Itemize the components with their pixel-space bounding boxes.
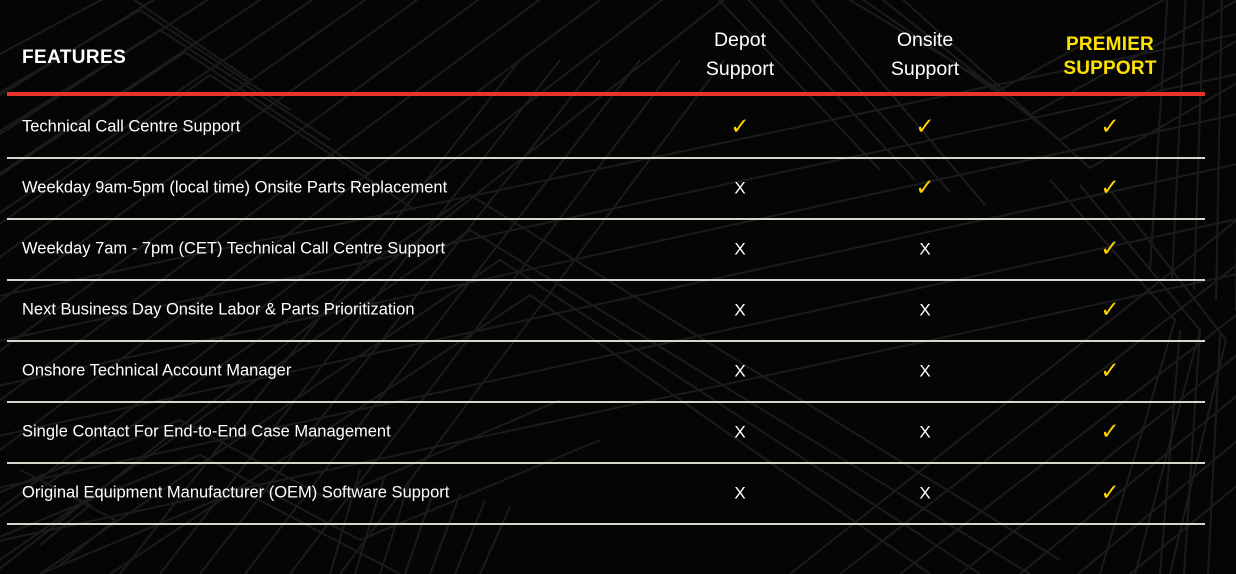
availability-cell: ✓	[1015, 236, 1205, 262]
feature-label: Next Business Day Onsite Labor & Parts P…	[22, 300, 415, 319]
availability-cell: ✓	[830, 114, 1020, 140]
table-row: Single Contact For End-to-End Case Manag…	[0, 401, 1236, 462]
table-row: Onshore Technical Account ManagerXX✓	[0, 340, 1236, 401]
column-header-depot-support: Depot Support	[645, 26, 835, 84]
cross-icon: X	[919, 422, 930, 441]
availability-cell: X	[645, 419, 835, 444]
check-icon: ✓	[1100, 113, 1119, 139]
availability-cell: ✓	[1015, 358, 1205, 384]
check-icon: ✓	[1100, 357, 1119, 383]
column-header-line2: Support	[645, 55, 835, 84]
features-column-title: FEATURES	[22, 47, 126, 69]
availability-cell: X	[645, 358, 835, 383]
row-divider	[7, 523, 1205, 525]
cross-icon: X	[919, 361, 930, 380]
feature-label: Onshore Technical Account Manager	[22, 361, 291, 380]
column-header-line1: Onsite	[830, 26, 1020, 55]
table-row: Technical Call Centre Support✓✓✓	[0, 96, 1236, 157]
table-row: Original Equipment Manufacturer (OEM) So…	[0, 462, 1236, 523]
availability-cell: ✓	[830, 175, 1020, 201]
column-header-line2: SUPPORT	[1015, 57, 1205, 81]
feature-label: Single Contact For End-to-End Case Manag…	[22, 422, 391, 441]
check-icon: ✓	[915, 113, 934, 139]
cross-icon: X	[919, 239, 930, 258]
table-row: Weekday 9am-5pm (local time) Onsite Part…	[0, 157, 1236, 218]
cross-icon: X	[734, 239, 745, 258]
table-row: Weekday 7am - 7pm (CET) Technical Call C…	[0, 218, 1236, 279]
availability-cell: ✓	[1015, 419, 1205, 445]
column-header-line1: Depot	[645, 26, 835, 55]
availability-cell: ✓	[1015, 175, 1205, 201]
cross-icon: X	[734, 361, 745, 380]
table-header: FEATURES Depot Support Onsite Support PR…	[0, 0, 1236, 93]
availability-cell: ✓	[1015, 480, 1205, 506]
availability-cell: X	[830, 480, 1020, 505]
feature-label: Weekday 7am - 7pm (CET) Technical Call C…	[22, 239, 445, 258]
column-header-premier-support: PREMIER SUPPORT	[1015, 33, 1205, 81]
cross-icon: X	[919, 300, 930, 319]
availability-cell: X	[645, 175, 835, 200]
availability-cell: X	[830, 297, 1020, 322]
check-icon: ✓	[1100, 174, 1119, 200]
check-icon: ✓	[1100, 479, 1119, 505]
check-icon: ✓	[1100, 418, 1119, 444]
cross-icon: X	[734, 483, 745, 502]
check-icon: ✓	[1100, 235, 1119, 261]
check-icon: ✓	[1100, 296, 1119, 322]
column-header-line2: Support	[830, 55, 1020, 84]
table-row: Next Business Day Onsite Labor & Parts P…	[0, 279, 1236, 340]
cross-icon: X	[919, 483, 930, 502]
feature-label: Weekday 9am-5pm (local time) Onsite Part…	[22, 178, 447, 197]
availability-cell: X	[645, 480, 835, 505]
availability-cell: ✓	[645, 114, 835, 140]
cross-icon: X	[734, 178, 745, 197]
cross-icon: X	[734, 300, 745, 319]
check-icon: ✓	[915, 174, 934, 200]
availability-cell: X	[830, 358, 1020, 383]
feature-label: Original Equipment Manufacturer (OEM) So…	[22, 483, 449, 502]
availability-cell: ✓	[1015, 297, 1205, 323]
column-header-onsite-support: Onsite Support	[830, 26, 1020, 84]
feature-label: Technical Call Centre Support	[22, 117, 240, 136]
check-icon: ✓	[730, 113, 749, 139]
availability-cell: ✓	[1015, 114, 1205, 140]
support-comparison-table: FEATURES Depot Support Onsite Support PR…	[0, 0, 1236, 574]
availability-cell: X	[645, 297, 835, 322]
availability-cell: X	[830, 236, 1020, 261]
cross-icon: X	[734, 422, 745, 441]
column-header-line1: PREMIER	[1015, 33, 1205, 57]
availability-cell: X	[830, 419, 1020, 444]
availability-cell: X	[645, 236, 835, 261]
